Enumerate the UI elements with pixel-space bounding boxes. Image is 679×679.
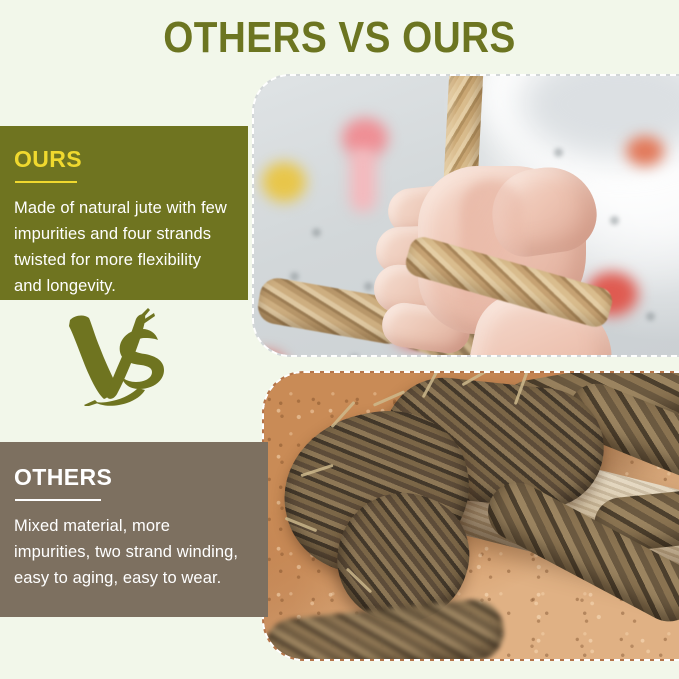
others-heading-underline (15, 499, 101, 501)
ours-description: Made of natural jute with few impurities… (14, 195, 228, 299)
others-description: Mixed material, more impurities, two str… (14, 513, 248, 591)
ours-panel: OURS Made of natural jute with few impur… (0, 126, 248, 300)
ours-heading-underline (15, 181, 77, 183)
climbing-hold-yellow (262, 162, 306, 202)
others-image-scene (264, 373, 679, 659)
wall-bolt-dot (364, 282, 373, 291)
ours-product-image (252, 74, 679, 357)
climbing-hold-pink-strip (350, 148, 376, 212)
wall-bolt-dot (312, 228, 321, 237)
ours-image-scene (254, 76, 679, 355)
others-product-image (262, 371, 679, 661)
others-heading: OTHERS (14, 464, 248, 490)
ours-heading: OURS (14, 146, 228, 172)
comparison-infographic: OTHERS VS OURS (0, 0, 679, 679)
wall-bolt-dot (350, 354, 359, 357)
others-panel: OTHERS Mixed material, more impurities, … (0, 442, 268, 617)
page-title: OTHERS VS OURS (41, 14, 639, 62)
wall-bolt-dot (646, 312, 655, 321)
climbing-hold-orange (626, 136, 664, 166)
vs-badge (62, 306, 172, 406)
